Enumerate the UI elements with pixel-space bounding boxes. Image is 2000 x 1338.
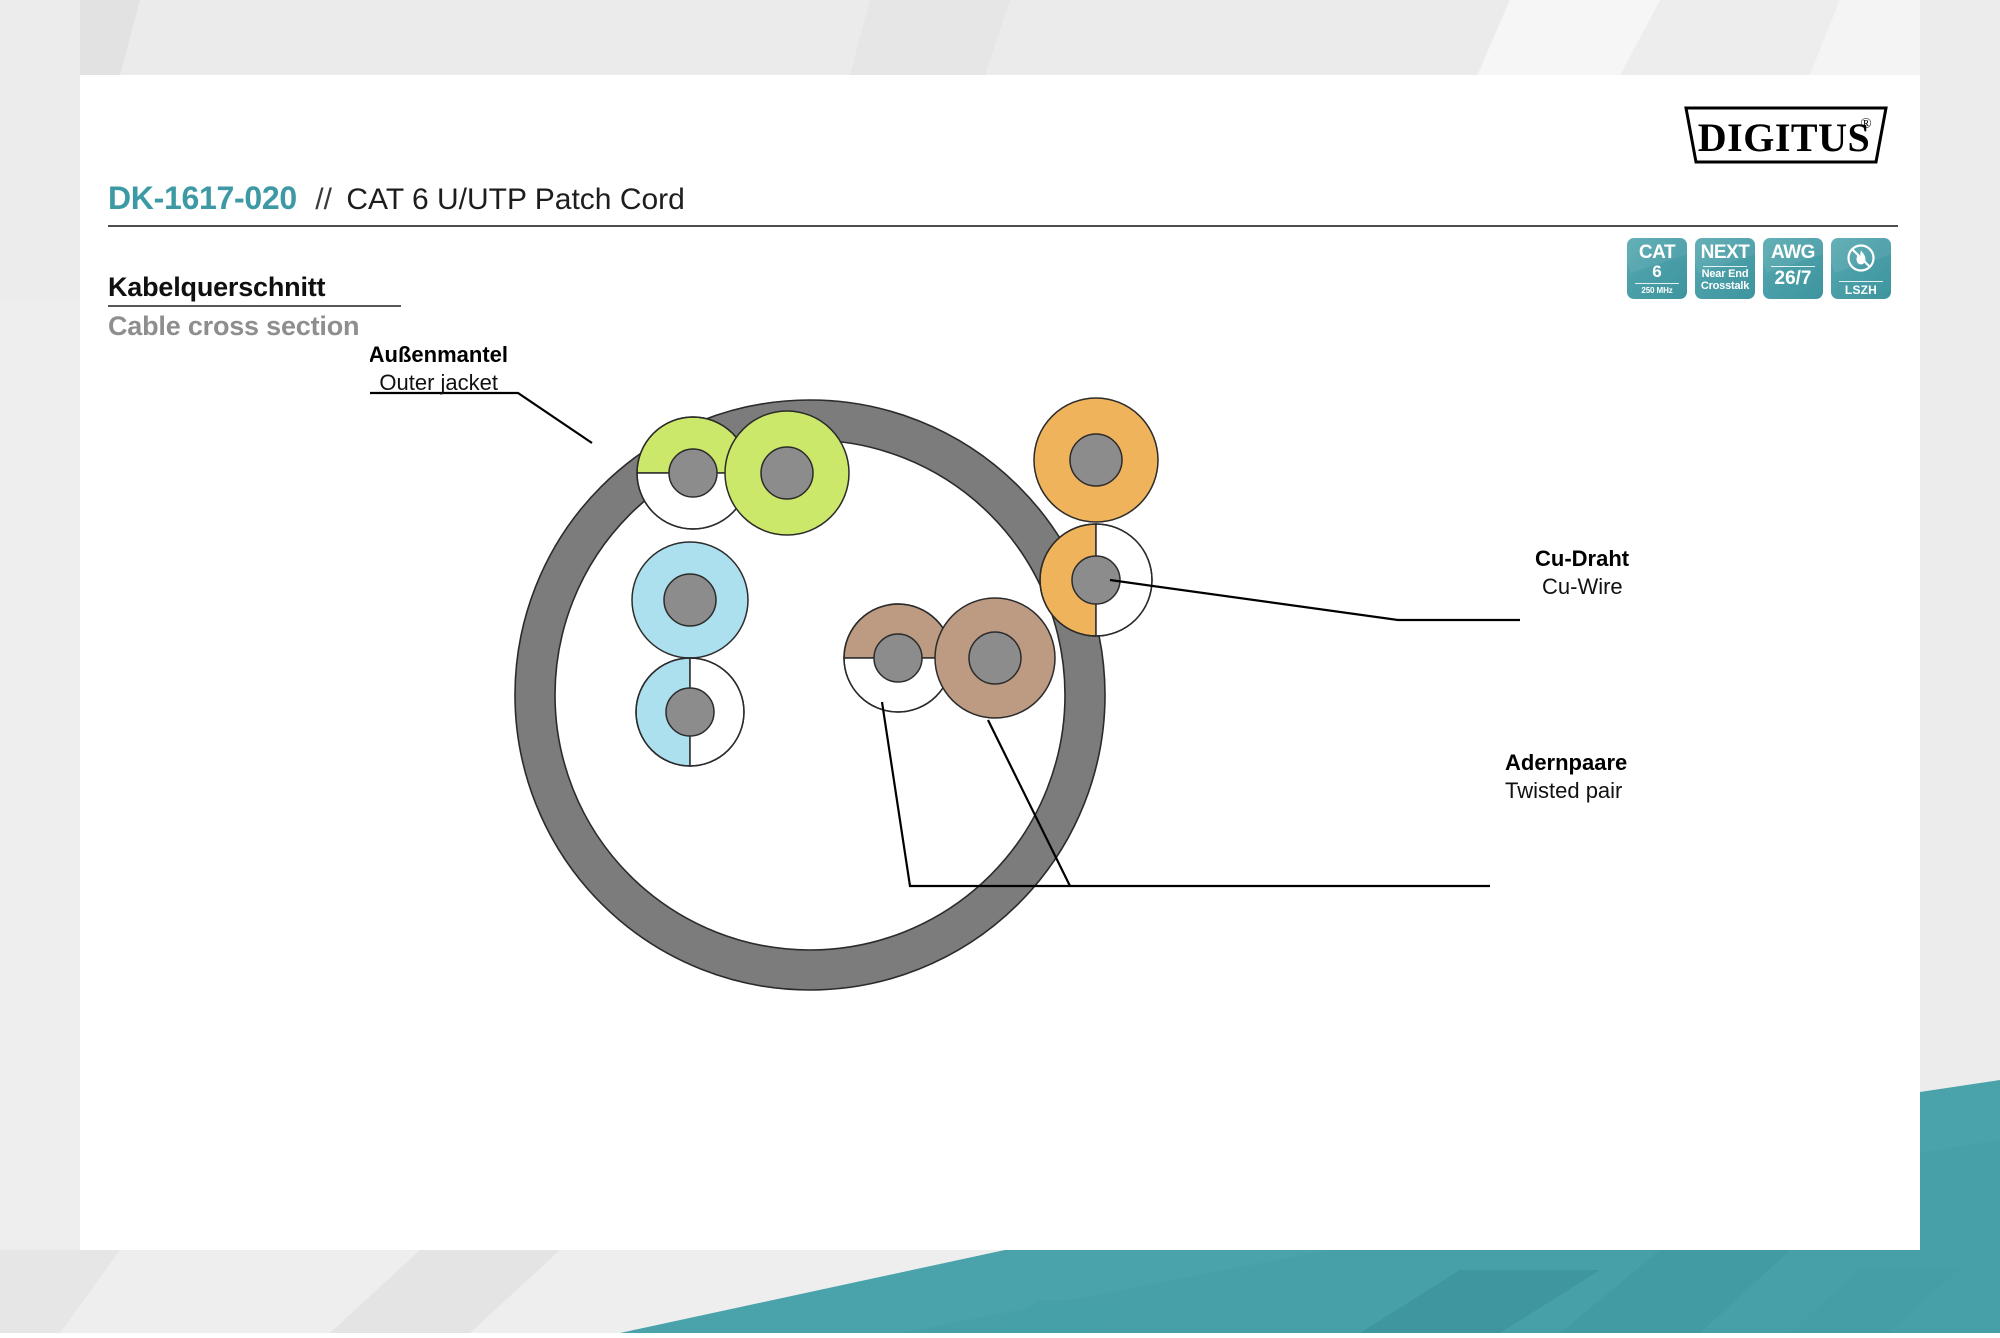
green-pair xyxy=(637,411,849,535)
callout-cu-wire: Cu-Draht Cu-Wire xyxy=(1535,546,1630,599)
orange-solid-wire xyxy=(1034,398,1158,522)
cat-badge-footnote: 250 MHz xyxy=(1641,286,1672,296)
next-badge-rule xyxy=(1703,266,1747,267)
section-heading-divider xyxy=(108,305,401,307)
outer-jacket-leader xyxy=(370,393,592,443)
header: DK-1617-020 // CAT 6 U/UTP Patch Cord xyxy=(108,180,1898,228)
section-heading-de: Kabelquerschnitt xyxy=(108,272,401,302)
digitus-logo: DIGITUS ® xyxy=(1680,104,1892,166)
header-separator: // xyxy=(315,183,332,216)
next-badge: NEXT Near End Crosstalk xyxy=(1695,238,1755,299)
page-title: CAT 6 U/UTP Patch Cord xyxy=(346,183,684,216)
twisted-pair-label-de: Adernpaare xyxy=(1505,750,1627,775)
copper-core xyxy=(761,447,813,499)
twisted-pair-label-en: Twisted pair xyxy=(1505,778,1622,803)
logo-wordmark: DIGITUS xyxy=(1698,115,1870,160)
next-badge-line2: Crosstalk xyxy=(1701,281,1749,293)
lszh-badge-footnote: LSZH xyxy=(1845,284,1877,297)
left-gray-bands xyxy=(0,0,80,1333)
green-solid-wire xyxy=(725,411,849,535)
lszh-badge-rule xyxy=(1839,281,1883,282)
cu-wire-leader xyxy=(1110,580,1520,620)
cat-badge-sub: 6 xyxy=(1652,263,1661,280)
awg-badge-rule xyxy=(1771,266,1815,267)
outer-jacket-label-de: Außenmantel xyxy=(370,342,508,367)
cat-badge-main: CAT xyxy=(1639,243,1675,263)
section-heading-en: Cable cross section xyxy=(108,311,401,341)
copper-core xyxy=(969,632,1021,684)
certification-badges: CAT 6 250 MHz NEXT Near End Crosstalk AW… xyxy=(1627,238,1891,299)
cu-wire-label-de: Cu-Draht xyxy=(1535,546,1630,571)
outer-jacket-label-en: Outer jacket xyxy=(379,370,498,395)
copper-core xyxy=(1070,434,1122,486)
cable-cross-section-diagram: Außenmantel Outer jacket Cu-Draht Cu-Wir… xyxy=(370,330,1690,1070)
header-divider xyxy=(108,225,1898,227)
blue-solid-wire xyxy=(632,542,748,658)
cat-badge: CAT 6 250 MHz xyxy=(1627,238,1687,299)
section-heading: Kabelquerschnitt Cable cross section xyxy=(108,272,401,341)
brown-solid-wire xyxy=(935,598,1055,718)
copper-core xyxy=(874,634,922,682)
copper-core xyxy=(664,574,716,626)
blue-striped-wire xyxy=(636,658,744,766)
copper-core xyxy=(669,449,717,497)
orange-pair xyxy=(1034,398,1158,636)
orange-striped-wire xyxy=(1040,524,1152,636)
lszh-badge: LSZH xyxy=(1831,238,1891,299)
awg-badge-main: AWG xyxy=(1771,243,1815,263)
awg-badge-sub: 26/7 xyxy=(1775,269,1812,289)
awg-badge: AWG 26/7 xyxy=(1763,238,1823,299)
callout-twisted-pair: Adernpaare Twisted pair xyxy=(1505,750,1627,803)
next-badge-line1: Near End xyxy=(1702,269,1749,281)
copper-core xyxy=(666,688,714,736)
cu-wire-label-en: Cu-Wire xyxy=(1542,574,1623,599)
logo-registered-mark: ® xyxy=(1860,116,1871,132)
article-code: DK-1617-020 xyxy=(108,180,297,216)
callout-outer-jacket: Außenmantel Outer jacket xyxy=(370,342,508,395)
no-flame-icon xyxy=(1846,243,1876,278)
next-badge-main: NEXT xyxy=(1701,243,1750,263)
cat-badge-rule xyxy=(1635,283,1679,284)
